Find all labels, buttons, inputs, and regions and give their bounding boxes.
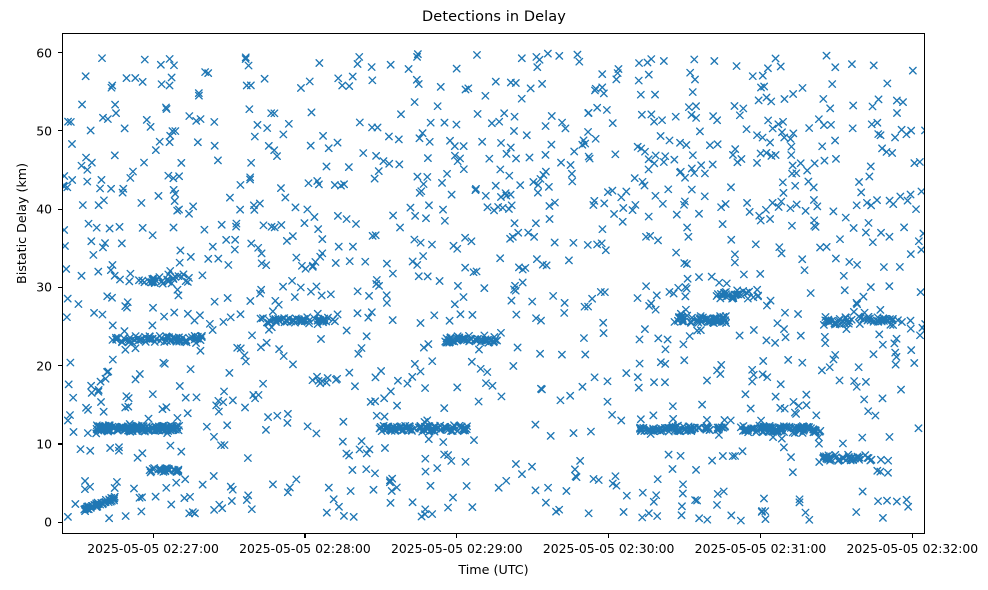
y-tick-mark: [58, 130, 62, 131]
y-tick-label: 50: [0, 123, 52, 138]
scatter-plot-canvas: [63, 34, 925, 534]
x-tick-mark: [608, 534, 609, 538]
x-tick-label: 2025-05-05 02:29:00: [391, 541, 523, 556]
y-tick-mark: [58, 365, 62, 366]
x-tick-label: 2025-05-05 02:28:00: [239, 541, 371, 556]
page-title: Detections in Delay: [0, 9, 988, 25]
y-tick-mark: [58, 287, 62, 288]
y-tick-label: 0: [0, 515, 52, 530]
x-tick-mark: [304, 534, 305, 538]
x-tick-mark: [760, 534, 761, 538]
x-tick-label: 2025-05-05 02:31:00: [695, 541, 827, 556]
y-tick-mark: [58, 443, 62, 444]
x-tick-label: 2025-05-05 02:32:00: [847, 541, 979, 556]
y-tick-label: 10: [0, 436, 52, 451]
y-tick-label: 60: [0, 45, 52, 60]
figure-canvas: Detections in Delay 0102030405060 2025-0…: [0, 0, 988, 590]
x-tick-mark: [153, 534, 154, 538]
y-tick-mark: [58, 209, 62, 210]
y-tick-mark: [58, 52, 62, 53]
plot-axes: [62, 33, 925, 534]
x-tick-mark: [456, 534, 457, 538]
y-tick-label: 20: [0, 358, 52, 373]
x-tick-label: 2025-05-05 02:27:00: [87, 541, 219, 556]
x-tick-label: 2025-05-05 02:30:00: [543, 541, 675, 556]
y-axis-label: Bistatic Delay (km): [14, 163, 29, 284]
y-tick-mark: [58, 522, 62, 523]
x-axis-label: Time (UTC): [62, 562, 925, 577]
x-tick-mark: [912, 534, 913, 538]
